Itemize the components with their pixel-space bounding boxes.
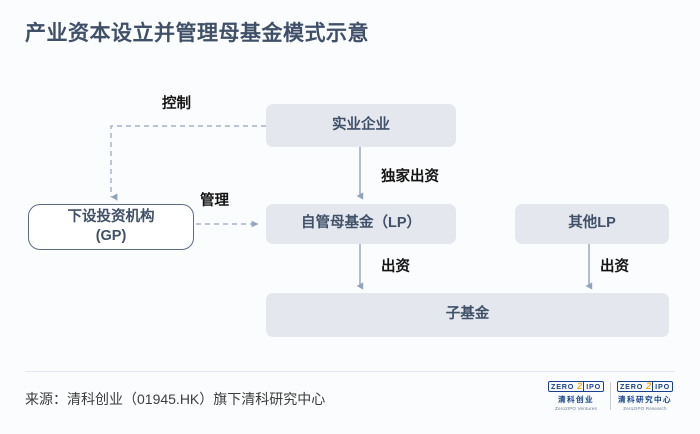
edge-label-control: 控制 [162,92,191,113]
node-parent-fund-label: 自管母基金（LP） [301,214,421,233]
node-sub-fund[interactable]: 子基金 [266,293,669,337]
logo-zero2ipo-ventures: ZERO 2 IPO 清科创业 Zero2IPO Ventures [548,381,604,411]
edge-label-manage: 管理 [200,189,229,210]
logo-chinese-name-research: 清科研究中心 [618,394,672,405]
zero2ipo-logo-mark-research: ZERO 2 IPO [617,381,673,392]
logo-ipo-text: IPO [583,382,603,391]
edge-label-contribution-right: 出资 [600,255,629,276]
logo-ipo-text: IPO [652,382,672,391]
logo-english-name-research: Zero2IPO Research [623,406,666,411]
node-other-lp-label: 其他LP [568,214,616,233]
diagram-canvas: 产业资本设立并管理母基金模式示意 [0,0,700,434]
logo-two-glyph: 2 [576,382,583,391]
edge-label-contribution-left: 出资 [381,255,410,276]
footer-divider [25,371,675,372]
node-self-managed-parent-fund-lp[interactable]: 自管母基金（LP） [266,204,456,244]
logo-zero-text: ZERO [618,382,645,391]
logo-separator [610,382,611,410]
node-investment-institution-gp[interactable]: 下设投资机构 (GP) [28,204,194,250]
node-sub-fund-label: 子基金 [446,305,490,324]
node-industrial-enterprise[interactable]: 实业企业 [266,104,456,147]
node-gp-label-line2: (GP) [96,227,127,246]
logo-two-glyph: 2 [645,382,652,391]
logo-zero2ipo-research: ZERO 2 IPO 清科研究中心 Zero2IPO Research [617,381,673,411]
node-gp-label-line1: 下设投资机构 [68,208,155,227]
logo-english-name-ventures: Zero2IPO Ventures [555,406,597,411]
node-other-lp[interactable]: 其他LP [515,204,669,244]
footer-source-text: 来源：清科创业（01945.HK）旗下清科研究中心 [25,389,325,409]
edge-label-exclusive-funding: 独家出资 [381,165,439,186]
logo-zero-text: ZERO [549,382,576,391]
node-industrial-enterprise-label: 实业企业 [332,116,390,135]
logo-chinese-name-ventures: 清科创业 [558,394,594,405]
zero2ipo-logo-mark-ventures: ZERO 2 IPO [548,381,604,392]
diagram-body: 实业企业 下设投资机构 (GP) 自管母基金（LP） 其他LP 子基金 控制 管… [0,0,700,370]
footer-logos: ZERO 2 IPO 清科创业 Zero2IPO Ventures ZERO 2… [548,381,673,411]
edge-control-path [111,126,266,197]
